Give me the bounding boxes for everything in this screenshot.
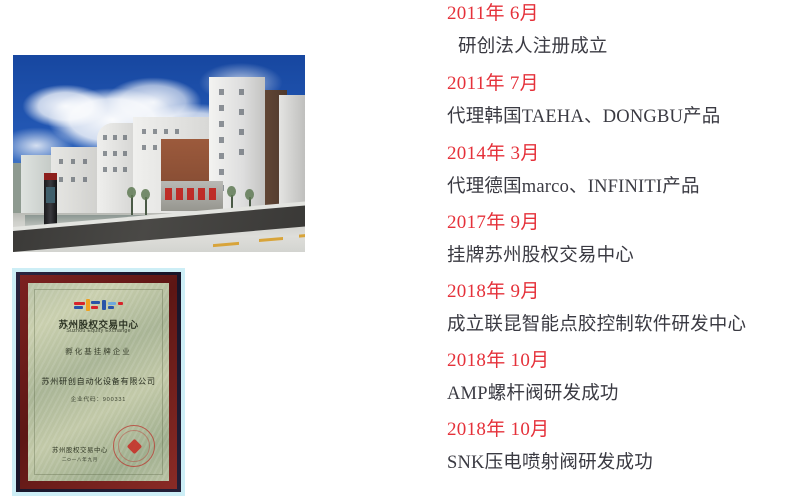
window [123,151,127,156]
timeline-description: 代理韩国TAEHA、DONGBU产品 [447,108,720,127]
window [153,145,157,150]
tree-canopy [245,189,254,200]
tree-canopy [141,189,150,200]
window [219,137,224,143]
road-marking [299,233,305,237]
window [123,135,127,140]
window [103,151,107,156]
window [142,129,146,134]
timeline-date: 2018年 10月 [447,420,549,439]
timeline-description: 代理德国marco、INFINITI产品 [447,178,700,197]
window [153,129,157,134]
monument-inscription [165,188,219,200]
signage-pillar-cap [44,173,57,180]
timeline-date: 2011年 7月 [447,74,539,93]
official-seal-icon [113,425,155,467]
timeline-description: 挂牌苏州股权交易中心 [447,247,634,266]
timeline-date: 2018年 9月 [447,282,540,301]
timeline-description: SNK压电喷射阀研发成功 [447,454,653,473]
timeline-date: 2011年 6月 [447,4,539,23]
window [219,169,224,175]
window [103,135,107,140]
window [219,153,224,159]
window [219,121,224,127]
window [239,109,244,115]
plaque-code-value: 900331 [103,397,126,403]
window [219,89,224,95]
tree-trunk [131,195,133,215]
tree-canopy [127,187,136,198]
window [83,177,87,182]
sec-logo-icon [72,297,126,313]
timeline-date: 2014年 3月 [447,144,540,163]
window [103,167,107,172]
window [175,129,179,134]
window [59,177,63,182]
window [239,89,244,95]
window [164,129,168,134]
left-media-column: 苏州股权交易中心 Suzhou Equity Exchange 孵化基挂牌企业 … [0,0,420,504]
plaque-company-name: 苏州研创自动化设备有限公司 [28,375,169,387]
timeline-description: 成立联昆智能点胶控制软件研发中心 [447,316,746,335]
window [239,129,244,135]
timeline-date: 2017年 9月 [447,213,540,232]
award-plaque: 苏州股权交易中心 Suzhou Equity Exchange 孵化基挂牌企业 … [12,268,185,496]
window [113,167,117,172]
plaque-metal-plate: 苏州股权交易中心 Suzhou Equity Exchange 孵化基挂牌企业 … [28,283,169,481]
signage-pillar-panel [46,187,55,203]
company-timeline: 2011年 6月 研创法人注册成立 2011年 7月 代理韩国TAEHA、DON… [447,0,790,504]
timeline-description: AMP螺杆阀研发成功 [447,385,619,404]
window [219,105,224,111]
window [142,145,146,150]
building-photo [13,55,305,252]
window [113,135,117,140]
window [59,159,63,164]
plaque-company-code: 企业代码：900331 [28,395,169,403]
window [71,159,75,164]
window [239,149,244,155]
window [83,159,87,164]
window [123,167,127,172]
building-tower-right [279,95,305,219]
tree-canopy [227,186,236,197]
plaque-award-title: 孵化基挂牌企业 [28,346,169,357]
timeline-description: 研创法人注册成立 [447,38,608,57]
window [71,177,75,182]
plaque-org-en: Suzhou Equity Exchange [28,328,169,334]
window [113,151,117,156]
page-root: 苏州股权交易中心 Suzhou Equity Exchange 孵化基挂牌企业 … [0,0,790,504]
timeline-date: 2018年 10月 [447,351,549,370]
plaque-code-label: 企业代码： [71,397,103,403]
